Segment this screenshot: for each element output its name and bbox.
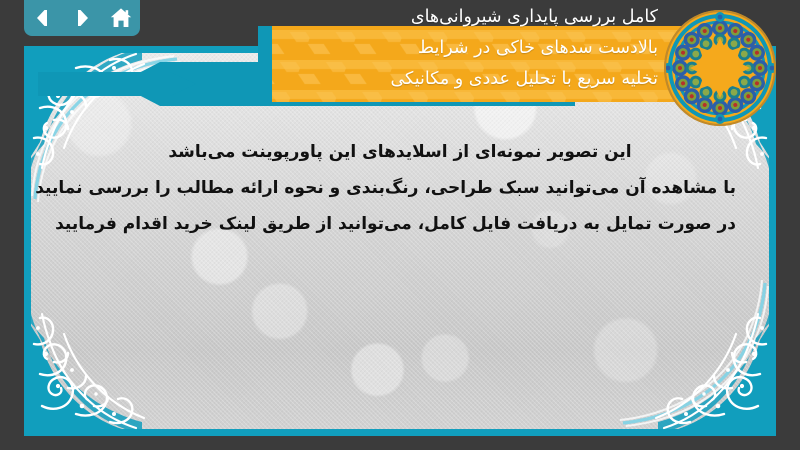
home-icon [109, 6, 133, 30]
triangle-left-icon [32, 7, 54, 29]
title-line-1: کامل بررسی پایداری شیروانی‌های [238, 2, 658, 33]
navigation-toolbar [24, 0, 140, 36]
title-line-2: بالادست سدهای خاکی در شرایط [238, 33, 658, 64]
triangle-right-icon [71, 7, 93, 29]
body-line-3: در صورت تمایل به دریافت فایل کامل، می‌تو… [64, 206, 736, 242]
slide-body-text: این تصویر نمونه‌ای از اسلایدهای این پاور… [64, 134, 736, 242]
body-line-1: این تصویر نمونه‌ای از اسلایدهای این پاور… [64, 134, 736, 170]
slide-title: کامل بررسی پایداری شیروانی‌های بالادست س… [238, 2, 658, 95]
persian-rosette-medallion [662, 10, 778, 126]
forward-button[interactable] [67, 3, 97, 33]
home-button[interactable] [106, 3, 136, 33]
title-line-3: تخلیه سریع با تحلیل عددی و مکانیکی [238, 64, 658, 95]
back-button[interactable] [28, 3, 58, 33]
presentation-viewer: این تصویر نمونه‌ای از اسلایدهای این پاور… [0, 0, 800, 450]
body-line-2: با مشاهده آن می‌توانید سبک طراحی، رنگ‌بن… [64, 170, 736, 206]
